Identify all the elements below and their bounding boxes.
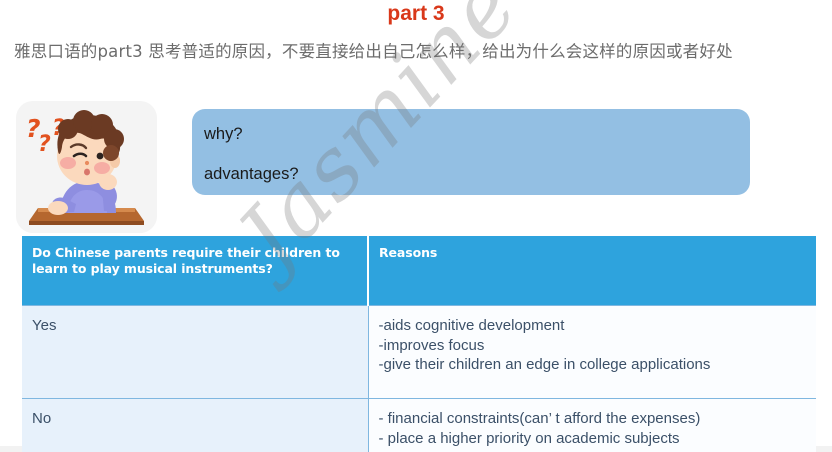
reasons-cell-no: - financial constraints(can’ t afford th… bbox=[368, 399, 816, 452]
intro-paragraph: 雅思口语的part3 思考普适的原因，不要直接给出自己怎么样，给出为什么会这样的… bbox=[14, 38, 830, 65]
prompt-bubble: why? advantages? bbox=[192, 109, 750, 195]
table-header-reasons: Reasons bbox=[368, 236, 816, 306]
answer-cell-yes: Yes bbox=[22, 306, 368, 399]
table-row: No - financial constraints(can’ t afford… bbox=[22, 399, 816, 452]
answer-cell-no: No bbox=[22, 399, 368, 452]
reason-line: -aids cognitive development bbox=[379, 316, 807, 336]
thinking-child-illustration: ? ? ? bbox=[16, 101, 157, 233]
reason-line: -improves focus bbox=[379, 336, 807, 356]
svg-text:?: ? bbox=[38, 132, 51, 157]
reason-line: -give their children an edge in college … bbox=[379, 355, 807, 375]
table-header-question: Do Chinese parents require their childre… bbox=[22, 236, 368, 306]
table-row: Yes -aids cognitive development -improve… bbox=[22, 306, 816, 399]
bubble-line-why: why? bbox=[204, 125, 243, 144]
reasons-cell-yes: -aids cognitive development -improves fo… bbox=[368, 306, 816, 399]
reason-line: - place a higher priority on academic su… bbox=[379, 429, 807, 449]
reason-line: - financial constraints(can’ t afford th… bbox=[379, 409, 807, 429]
bubble-line-advantages: advantages? bbox=[204, 165, 299, 184]
table-header-row: Do Chinese parents require their childre… bbox=[22, 236, 816, 306]
reasons-table: Do Chinese parents require their childre… bbox=[22, 236, 816, 452]
slide-page: part 3 雅思口语的part3 思考普适的原因，不要直接给出自己怎么样，给出… bbox=[0, 0, 832, 452]
thinking-child-icon: ? ? ? bbox=[16, 101, 157, 233]
page-title: part 3 bbox=[0, 1, 832, 27]
